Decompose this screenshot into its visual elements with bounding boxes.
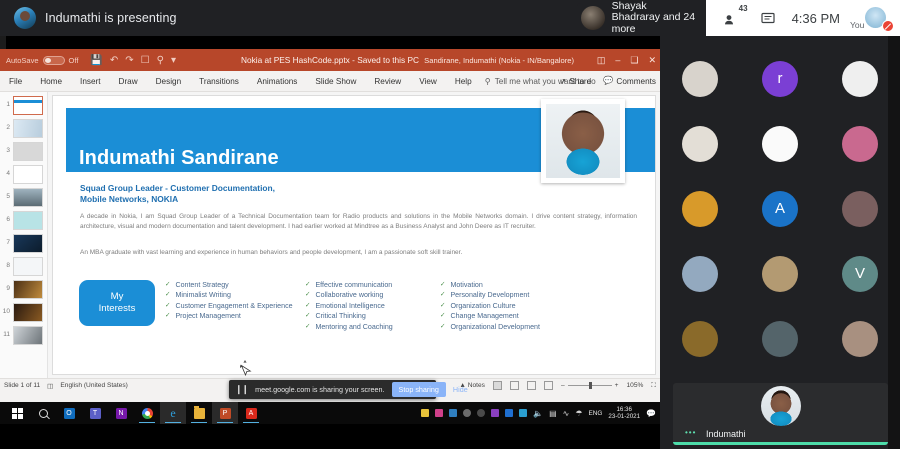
slide-thumbnail-5[interactable]: 5 xyxy=(0,188,47,207)
taskbar-chrome[interactable] xyxy=(134,402,160,424)
people-icon[interactable]: 43 xyxy=(714,0,750,36)
interest-label: Motivation xyxy=(450,280,482,290)
language-indicator[interactable]: ENG xyxy=(589,410,603,417)
interest-item: ✓ Personality Development xyxy=(440,290,645,300)
slide-canvas[interactable]: Indumathi Sandirane Squad Group Leader -… xyxy=(53,96,655,374)
active-speaker-avatar-icon xyxy=(581,6,605,30)
slide-thumbnail-image[interactable] xyxy=(13,119,43,138)
participant-tile[interactable] xyxy=(682,191,718,227)
security-tray-icon[interactable] xyxy=(477,409,485,417)
ribbon-tab-help[interactable]: Help xyxy=(446,71,481,92)
share-button[interactable]: ↗ Share xyxy=(559,76,591,86)
slide-number: 4 xyxy=(2,165,10,177)
taskbar-internet-explorer[interactable] xyxy=(160,402,186,424)
slide-number: 5 xyxy=(2,188,10,200)
powerpoint-body: 1 2 3 4 5 xyxy=(0,92,660,378)
interest-item: ✓ Content Strategy xyxy=(165,280,295,290)
meet-controls-pill: 43 4:36 PM You xyxy=(706,0,900,36)
ribbon-tab-slide-show[interactable]: Slide Show xyxy=(306,71,365,92)
check-icon: ✓ xyxy=(440,322,445,332)
participant-tile[interactable] xyxy=(682,126,718,162)
chrome-icon xyxy=(142,408,153,419)
taskbar-time: 16:36 xyxy=(608,406,640,413)
slide-subtitle-text[interactable]: Squad Group Leader - Customer Documentat… xyxy=(80,183,275,205)
share-label: Share xyxy=(569,77,591,86)
portrait-image xyxy=(546,104,620,178)
check-icon: ✓ xyxy=(305,280,310,290)
slide-number: 6 xyxy=(2,211,10,223)
interest-label: Effective communication xyxy=(315,280,392,290)
slideshow-icon[interactable] xyxy=(544,381,553,390)
wifi-icon[interactable]: ∿ xyxy=(563,409,570,418)
ribbon-right-actions: ↗ Share 💬 Comments xyxy=(559,76,656,86)
check-icon: ✓ xyxy=(305,290,310,300)
participant-tile[interactable]: A xyxy=(762,191,798,227)
participant-tile[interactable] xyxy=(762,321,798,357)
language-label[interactable]: English (United States) xyxy=(60,382,127,389)
teams-icon xyxy=(90,408,101,419)
ribbon-tab-draw[interactable]: Draw xyxy=(110,71,147,92)
participant-tile[interactable] xyxy=(842,126,878,162)
quick-access-toolbar: 💾 ↶ ↷ ☐ ⚲ ▾ xyxy=(78,55,176,66)
self-view-avatar-icon xyxy=(761,386,801,426)
chat-bubble-icon[interactable] xyxy=(750,0,786,36)
meeting-clock: 4:36 PM xyxy=(786,11,850,26)
ribbon-tab-design[interactable]: Design xyxy=(147,71,191,92)
meet-right-edge xyxy=(888,36,900,449)
powerpoint-title-bar: AutoSave Off 💾 ↶ ↷ ☐ ⚲ ▾ Nokia at PES Ha… xyxy=(0,49,660,71)
check-icon: ✓ xyxy=(165,311,170,321)
zoom-level-label[interactable]: 105% xyxy=(627,382,644,389)
onenote-icon xyxy=(116,408,127,419)
bluetooth-icon[interactable] xyxy=(505,409,513,417)
slide-thumbnail-image[interactable] xyxy=(13,234,43,253)
user-account-label[interactable]: Sandirane, Indumathi (Nokia - IN/Bangalo… xyxy=(424,56,574,65)
slide-thumbnail-pane[interactable]: 1 2 3 4 5 xyxy=(0,92,48,378)
my-interests-line-1: My xyxy=(99,291,136,303)
autosave-state: Off xyxy=(69,56,79,65)
notes-tray-icon[interactable] xyxy=(421,409,429,417)
comment-icon: 💬 xyxy=(603,76,613,86)
ribbon-tab-bar: File Home Insert Draw Design Transitions… xyxy=(0,71,660,92)
interest-label: Critical Thinking xyxy=(315,311,365,321)
meet-top-bar: Indumathi is presenting Shayak Bhadraray… xyxy=(0,0,900,36)
slide-thumbnail-image[interactable] xyxy=(13,280,43,299)
powerpoint-icon xyxy=(220,408,231,419)
slide-indicator[interactable]: Slide 1 of 11 xyxy=(4,382,40,389)
share-icon: ↗ xyxy=(559,76,566,86)
participant-count-badge: 43 xyxy=(739,4,748,13)
folder-icon xyxy=(194,408,205,419)
comments-button[interactable]: 💬 Comments xyxy=(603,76,656,86)
slide-thumbnail-1[interactable]: 1 xyxy=(0,96,47,115)
presenter-avatar-icon xyxy=(14,7,36,29)
interest-label: Project Management xyxy=(175,311,240,321)
action-center-icon[interactable]: 💬 xyxy=(646,409,656,418)
close-icon[interactable]: ✕ xyxy=(648,55,656,66)
interest-label: Content Strategy xyxy=(175,280,228,290)
interest-item: ✓ Collaborative working xyxy=(305,290,430,300)
search-icon: ⚲ xyxy=(485,76,491,86)
system-tray: 🔈 ▤ ∿ ☂ ENG 16:36 23-01-2021 💬 xyxy=(421,406,656,421)
active-speaker-chip[interactable]: Shayak Bhadraray and 24 more xyxy=(577,3,706,33)
you-label: You xyxy=(850,20,864,30)
interest-item: ✓ Change Management xyxy=(440,311,645,321)
stop-sharing-button[interactable]: Stop sharing xyxy=(392,382,446,397)
shield-tray-icon[interactable] xyxy=(463,409,471,417)
slide-title-text[interactable]: Indumathi Sandirane xyxy=(79,147,279,170)
slide-number: 1 xyxy=(2,96,10,108)
windows-taskbar: 🔈 ▤ ∿ ☂ ENG 16:36 23-01-2021 💬 xyxy=(0,402,660,424)
desktop-bottom-fill xyxy=(0,424,660,449)
check-icon: ✓ xyxy=(305,311,310,321)
accessibility-icon[interactable]: ◫ xyxy=(47,382,53,390)
status-bar-left: Slide 1 of 11 ◫ English (United States) xyxy=(0,382,128,390)
ribbon-tab-view[interactable]: View xyxy=(410,71,446,92)
check-icon: ✓ xyxy=(305,301,310,311)
share-message: meet.google.com is sharing your screen. xyxy=(255,385,384,394)
interests-columns: ✓ Content Strategy ✓ Minimalist Writing … xyxy=(165,280,645,332)
participant-row: V xyxy=(660,241,900,306)
slide-thumbnail-8[interactable]: 8 xyxy=(0,257,47,276)
participant-row: A xyxy=(660,176,900,241)
comments-label: Comments xyxy=(616,77,656,86)
speaking-indicator xyxy=(673,442,888,445)
taskbar-teams[interactable] xyxy=(82,402,108,424)
zoom-handle[interactable] xyxy=(589,382,592,389)
interest-item: ✓ Organization Culture xyxy=(440,301,645,311)
interest-label: Organizational Development xyxy=(450,322,540,332)
interest-label: Collaborative working xyxy=(315,290,383,300)
format-painter-icon[interactable]: ⚲ xyxy=(157,55,164,66)
check-icon: ✓ xyxy=(165,280,170,290)
microphone-muted-icon xyxy=(882,20,894,32)
zoom-in-icon[interactable]: + xyxy=(615,382,619,389)
app-tray-icon[interactable] xyxy=(435,409,443,417)
slide-thumbnail-6[interactable]: 6 xyxy=(0,211,47,230)
ribbon-tab-file[interactable]: File xyxy=(0,71,31,92)
autosave-toggle[interactable] xyxy=(43,56,65,65)
slide-subtitle-line-2: Mobile Networks, NOKIA xyxy=(80,194,275,205)
slide-thumbnail-4[interactable]: 4 xyxy=(0,165,47,184)
zoom-track[interactable] xyxy=(568,385,612,386)
self-view-name: Indumathi xyxy=(706,429,746,439)
printer-tray-icon[interactable]: ☂ xyxy=(575,409,582,418)
slide-thumbnail-image[interactable] xyxy=(13,142,43,161)
participant-grid: r A V xyxy=(660,36,900,449)
participant-tile[interactable] xyxy=(842,191,878,227)
interest-label: Customer Engagement & Experience xyxy=(175,301,292,311)
participant-tile[interactable]: r xyxy=(762,61,798,97)
interests-column-3: ✓ Motivation ✓ Personality Development ✓… xyxy=(440,280,645,332)
taskbar-adobe-reader[interactable] xyxy=(238,402,264,424)
slide-editor-pane[interactable]: Indumathi Sandirane Squad Group Leader -… xyxy=(48,92,660,378)
meet-top-bar-right: Shayak Bhadraray and 24 more 43 4:36 xyxy=(577,0,900,36)
volume-icon[interactable]: 🔈 xyxy=(533,409,543,418)
check-icon: ✓ xyxy=(305,322,310,332)
clock-and-date[interactable]: 16:36 23-01-2021 xyxy=(608,406,640,421)
customize-quick-access-icon[interactable]: ▾ xyxy=(171,55,176,66)
taskbar-pinned-items xyxy=(0,402,264,424)
slide-thumbnail-image[interactable] xyxy=(13,303,43,322)
participant-initial: r xyxy=(778,70,783,87)
save-icon[interactable]: 💾 xyxy=(90,55,102,66)
slide-thumbnail-11[interactable]: 11 xyxy=(0,326,47,345)
interests-column-2: ✓ Effective communication ✓ Collaborativ… xyxy=(305,280,430,332)
window-controls: ◫ – ❑ ✕ xyxy=(597,55,656,66)
minimize-icon[interactable]: – xyxy=(615,55,620,65)
slide-thumbnail-9[interactable]: 9 xyxy=(0,280,47,299)
taskbar-outlook[interactable] xyxy=(56,402,82,424)
check-icon: ✓ xyxy=(440,280,445,290)
slide-thumbnail-image[interactable] xyxy=(13,188,43,207)
ribbon-tab-review[interactable]: Review xyxy=(365,71,410,92)
more-options-icon[interactable]: ••• xyxy=(685,428,696,437)
update-tray-icon[interactable] xyxy=(519,409,527,417)
zoom-out-icon[interactable]: – xyxy=(561,382,565,389)
start-button[interactable] xyxy=(4,402,30,424)
slide-number: 7 xyxy=(2,234,10,246)
interest-label: Organization Culture xyxy=(450,301,515,311)
status-bar-right: ▲ Notes – + 105% ⛶ xyxy=(459,381,656,390)
powerpoint-window: AutoSave Off 💾 ↶ ↷ ☐ ⚲ ▾ Nokia at PES Ha… xyxy=(0,49,660,402)
interest-label: Personality Development xyxy=(450,290,529,300)
slide-number: 8 xyxy=(2,257,10,269)
ribbon-display-options-icon[interactable]: ◫ xyxy=(597,55,606,66)
participant-initial: A xyxy=(775,200,785,217)
slide-thumbnail-2[interactable]: 2 xyxy=(0,119,47,138)
interest-item: ✓ Minimalist Writing xyxy=(165,290,295,300)
self-view-tile[interactable]: ••• Indumathi xyxy=(673,383,888,445)
screen: Indumathi is presenting Shayak Bhadraray… xyxy=(0,0,900,449)
presenting-status: Indumathi is presenting xyxy=(0,7,177,29)
interest-item: ✓ Customer Engagement & Experience xyxy=(165,301,295,311)
windows-logo-icon xyxy=(12,408,23,419)
my-interests-line-2: Interests xyxy=(99,303,136,315)
taskbar-powerpoint[interactable] xyxy=(212,402,238,424)
participant-tile[interactable] xyxy=(762,256,798,292)
interest-label: Emotional Intelligence xyxy=(315,301,384,311)
battery-icon[interactable]: ▤ xyxy=(549,409,557,418)
present-icon[interactable]: ☐ xyxy=(141,55,150,66)
onedrive-icon[interactable] xyxy=(449,409,457,417)
slide-number: 11 xyxy=(2,326,10,338)
slide-paragraph-1[interactable]: A decade in Nokia, I am Squad Group Lead… xyxy=(80,212,637,231)
slide-number: 10 xyxy=(2,303,10,315)
undo-icon[interactable]: ↶ xyxy=(110,55,118,66)
participant-rows: r A V xyxy=(660,36,900,371)
check-icon: ✓ xyxy=(440,311,445,321)
slide-sorter-icon[interactable] xyxy=(510,381,519,390)
move-cursor-icon xyxy=(238,360,252,376)
interest-item: ✓ Organizational Development xyxy=(440,322,645,332)
taskbar-date: 23-01-2021 xyxy=(608,413,640,420)
pause-icon[interactable]: ❙❙ xyxy=(235,384,248,395)
taskbar-onenote[interactable] xyxy=(108,402,134,424)
ribbon-tabs: File Home Insert Draw Design Transitions… xyxy=(0,71,481,92)
autosave-label: AutoSave xyxy=(6,56,39,65)
presenting-banner-label: Indumathi is presenting xyxy=(45,11,177,25)
interest-label: Minimalist Writing xyxy=(175,290,230,300)
ribbon-tab-insert[interactable]: Insert xyxy=(71,71,109,92)
interest-item: ✓ Motivation xyxy=(440,280,645,290)
participant-tile[interactable] xyxy=(762,126,798,162)
participant-tile[interactable] xyxy=(842,321,878,357)
my-interests-badge[interactable]: My Interests xyxy=(79,280,155,326)
adobe-reader-icon xyxy=(246,408,257,419)
slide-thumbnail-3[interactable]: 3 xyxy=(0,142,47,161)
outlook-icon xyxy=(64,408,75,419)
slide-thumbnail-image[interactable] xyxy=(13,326,43,345)
participant-tile[interactable] xyxy=(682,321,718,357)
normal-view-icon[interactable] xyxy=(493,381,502,390)
internet-explorer-icon xyxy=(168,408,179,419)
screen-share-bar: ❙❙ meet.google.com is sharing your scree… xyxy=(229,380,436,399)
interest-item: ✓ Mentoring and Coaching xyxy=(305,322,430,332)
slide-number: 2 xyxy=(2,119,10,131)
autosave-control[interactable]: AutoSave Off xyxy=(0,56,78,65)
interest-item: ✓ Effective communication xyxy=(305,280,430,290)
participant-tile[interactable]: V xyxy=(842,256,878,292)
interest-item: ✓ Project Management xyxy=(165,311,295,321)
redo-icon[interactable]: ↷ xyxy=(125,55,133,66)
interests-column-1: ✓ Content Strategy ✓ Minimalist Writing … xyxy=(165,280,295,332)
slide-thumbnail-image[interactable] xyxy=(13,257,43,276)
participant-row: r xyxy=(660,46,900,111)
reading-view-icon[interactable] xyxy=(527,381,536,390)
check-icon: ✓ xyxy=(440,301,445,311)
slide-thumbnail-image[interactable] xyxy=(13,96,43,115)
participant-tile[interactable] xyxy=(682,256,718,292)
active-speaker-label: Shayak Bhadraray and 24 more xyxy=(612,1,696,36)
taskbar-search[interactable] xyxy=(30,402,56,424)
interest-label: Change Management xyxy=(450,311,518,321)
search-icon xyxy=(39,409,48,418)
slide-number: 3 xyxy=(2,142,10,154)
notes-label: Notes xyxy=(468,382,485,389)
interest-item: ✓ Emotional Intelligence xyxy=(305,301,430,311)
slide-thumbnail-10[interactable]: 10 xyxy=(0,303,47,322)
ribbon-tab-home[interactable]: Home xyxy=(31,71,71,92)
slide-subtitle-line-1: Squad Group Leader - Customer Documentat… xyxy=(80,183,275,194)
interest-item: ✓ Critical Thinking xyxy=(305,311,430,321)
slide-thumbnail-image[interactable] xyxy=(13,165,43,184)
taskbar-file-explorer[interactable] xyxy=(186,402,212,424)
self-status[interactable]: You xyxy=(850,0,894,36)
presenter-portrait-photo[interactable] xyxy=(541,99,625,183)
slide-thumbnail-image[interactable] xyxy=(13,211,43,230)
slide-thumbnail-7[interactable]: 7 xyxy=(0,234,47,253)
zoom-slider[interactable]: – + xyxy=(561,382,619,389)
fit-to-window-icon[interactable]: ⛶ xyxy=(651,382,656,390)
participant-tile[interactable] xyxy=(842,61,878,97)
participant-initial: V xyxy=(855,265,865,282)
interest-label: Mentoring and Coaching xyxy=(315,322,392,332)
check-icon: ✓ xyxy=(165,290,170,300)
slide-number: 9 xyxy=(2,280,10,292)
participant-row xyxy=(660,111,900,176)
slide-paragraph-2[interactable]: An MBA graduate with vast learning and e… xyxy=(80,248,637,258)
ribbon-tab-transitions[interactable]: Transitions xyxy=(190,71,248,92)
network-tray-icon[interactable] xyxy=(491,409,499,417)
check-icon: ✓ xyxy=(440,290,445,300)
participant-row xyxy=(660,306,900,371)
restore-icon[interactable]: ❑ xyxy=(630,55,638,66)
participant-tile[interactable] xyxy=(682,61,718,97)
check-icon: ✓ xyxy=(165,301,170,311)
ribbon-tab-animations[interactable]: Animations xyxy=(248,71,307,92)
hide-button[interactable]: Hide xyxy=(453,385,468,394)
